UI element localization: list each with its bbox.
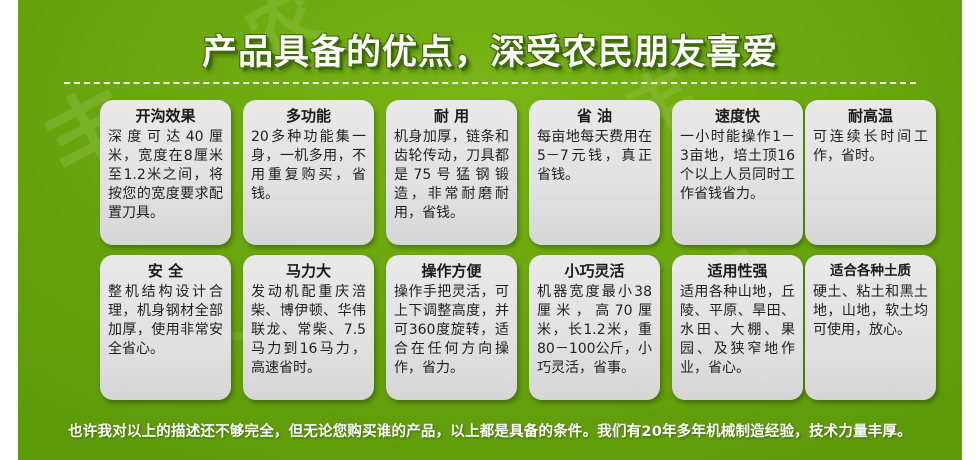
feature-card-title: 小巧灵活 (535, 262, 654, 281)
feature-card-body: 机身加厚，链条和齿轮传动，刀具都是75号猛钢锻造，非常耐磨耐用，省钱。 (392, 128, 511, 223)
feature-card-body: 发动机配重庆涪柴、博伊顿、华伟联龙、常柴、7.5马力到16马力，高速省时。 (249, 283, 368, 378)
feature-card-title: 安 全 (106, 262, 225, 281)
feature-card-body: 整机结构设计合理，机身钢材全部加厚，使用非常安全省心。 (106, 283, 225, 359)
feature-card[interactable]: 省 油 每亩地每天费用在5－7元钱，真正省钱。 (529, 100, 660, 245)
feature-row-bottom: 安 全 整机结构设计合理，机身钢材全部加厚，使用非常安全省心。 马力大 发动机配… (18, 255, 962, 410)
feature-card-title: 马力大 (249, 262, 368, 281)
feature-row-top: 开沟效果 深度可达40厘米，宽度在8厘米至1.2米之间，将按您的宽度要求配置刀具… (18, 100, 962, 255)
promo-poster: 丰 农 机 丰 农 机 产品具备的优点，深受农民朋友喜爱 开沟效果 深度可达40… (0, 0, 980, 460)
feature-card-title: 多功能 (249, 107, 368, 126)
feature-card-body: 机器宽度最小38厘米，高70厘米，长1.2米，重80－100公斤，小巧灵活，省事… (535, 283, 654, 378)
feature-card-title: 开沟效果 (106, 107, 225, 126)
feature-card-body: 一小时能操作1－3亩地，培土顶16个以上人员同时工作省钱省力。 (678, 128, 797, 204)
feature-card[interactable]: 开沟效果 深度可达40厘米，宽度在8厘米至1.2米之间，将按您的宽度要求配置刀具… (100, 100, 231, 245)
feature-card-title: 适用性强 (678, 262, 797, 281)
feature-card-body: 每亩地每天费用在5－7元钱，真正省钱。 (535, 128, 654, 185)
feature-card-title: 操作方便 (392, 262, 511, 281)
feature-card-body: 可连续长时间工作，省时。 (811, 128, 930, 166)
feature-card-title: 耐高温 (811, 107, 930, 126)
feature-card[interactable]: 适用性强 适用各种山地，丘陵、平原、旱田、水田、大棚、果园、及狭窄地作业，省心。 (672, 255, 803, 400)
feature-card[interactable]: 多功能 20多种功能集一身，一机多用，不用重复购买，省钱。 (243, 100, 374, 245)
feature-card-body: 深度可达40厘米，宽度在8厘米至1.2米之间，将按您的宽度要求配置刀具。 (106, 128, 225, 223)
feature-card-title: 省 油 (535, 107, 654, 126)
feature-card[interactable]: 耐 用 机身加厚，链条和齿轮传动，刀具都是75号猛钢锻造，非常耐磨耐用，省钱。 (386, 100, 517, 245)
page-title: 产品具备的优点，深受农民朋友喜爱 (18, 24, 962, 75)
feature-card-body: 操作手把灵活，可上下调整高度，并可360度旋转，适合在任何方向操作，省力。 (392, 283, 511, 378)
feature-card[interactable]: 安 全 整机结构设计合理，机身钢材全部加厚，使用非常安全省心。 (100, 255, 231, 400)
feature-card[interactable]: 适合各种土质 硬土、粘土和黑土地，山地，软土均可使用，放心。 (805, 255, 936, 400)
feature-card[interactable]: 操作方便 操作手把灵活，可上下调整高度，并可360度旋转，适合在任何方向操作，省… (386, 255, 517, 400)
feature-card[interactable]: 马力大 发动机配重庆涪柴、博伊顿、华伟联龙、常柴、7.5马力到16马力，高速省时… (243, 255, 374, 400)
feature-card[interactable]: 耐高温 可连续长时间工作，省时。 (805, 100, 936, 245)
feature-card[interactable]: 小巧灵活 机器宽度最小38厘米，高70厘米，长1.2米，重80－100公斤，小巧… (529, 255, 660, 400)
feature-card[interactable]: 速度快 一小时能操作1－3亩地，培土顶16个以上人员同时工作省钱省力。 (672, 100, 803, 245)
feature-card-body: 20多种功能集一身，一机多用，不用重复购买，省钱。 (249, 128, 368, 204)
title-divider (64, 82, 916, 84)
feature-card-title: 耐 用 (392, 107, 511, 126)
green-background-panel: 丰 农 机 丰 农 机 产品具备的优点，深受农民朋友喜爱 开沟效果 深度可达40… (18, 0, 962, 460)
feature-card-title: 适合各种土质 (811, 262, 930, 281)
feature-card-grid: 开沟效果 深度可达40厘米，宽度在8厘米至1.2米之间，将按您的宽度要求配置刀具… (18, 100, 962, 410)
feature-card-body: 适用各种山地，丘陵、平原、旱田、水田、大棚、果园、及狭窄地作业，省心。 (678, 283, 797, 378)
feature-card-body: 硬土、粘土和黑土地，山地，软土均可使用，放心。 (811, 283, 930, 340)
feature-card-title: 速度快 (678, 107, 797, 126)
footer-note: 也许我对以上的描述还不够完全，但无论您购买谁的产品，以上都是具备的条件。我们有2… (18, 420, 962, 441)
